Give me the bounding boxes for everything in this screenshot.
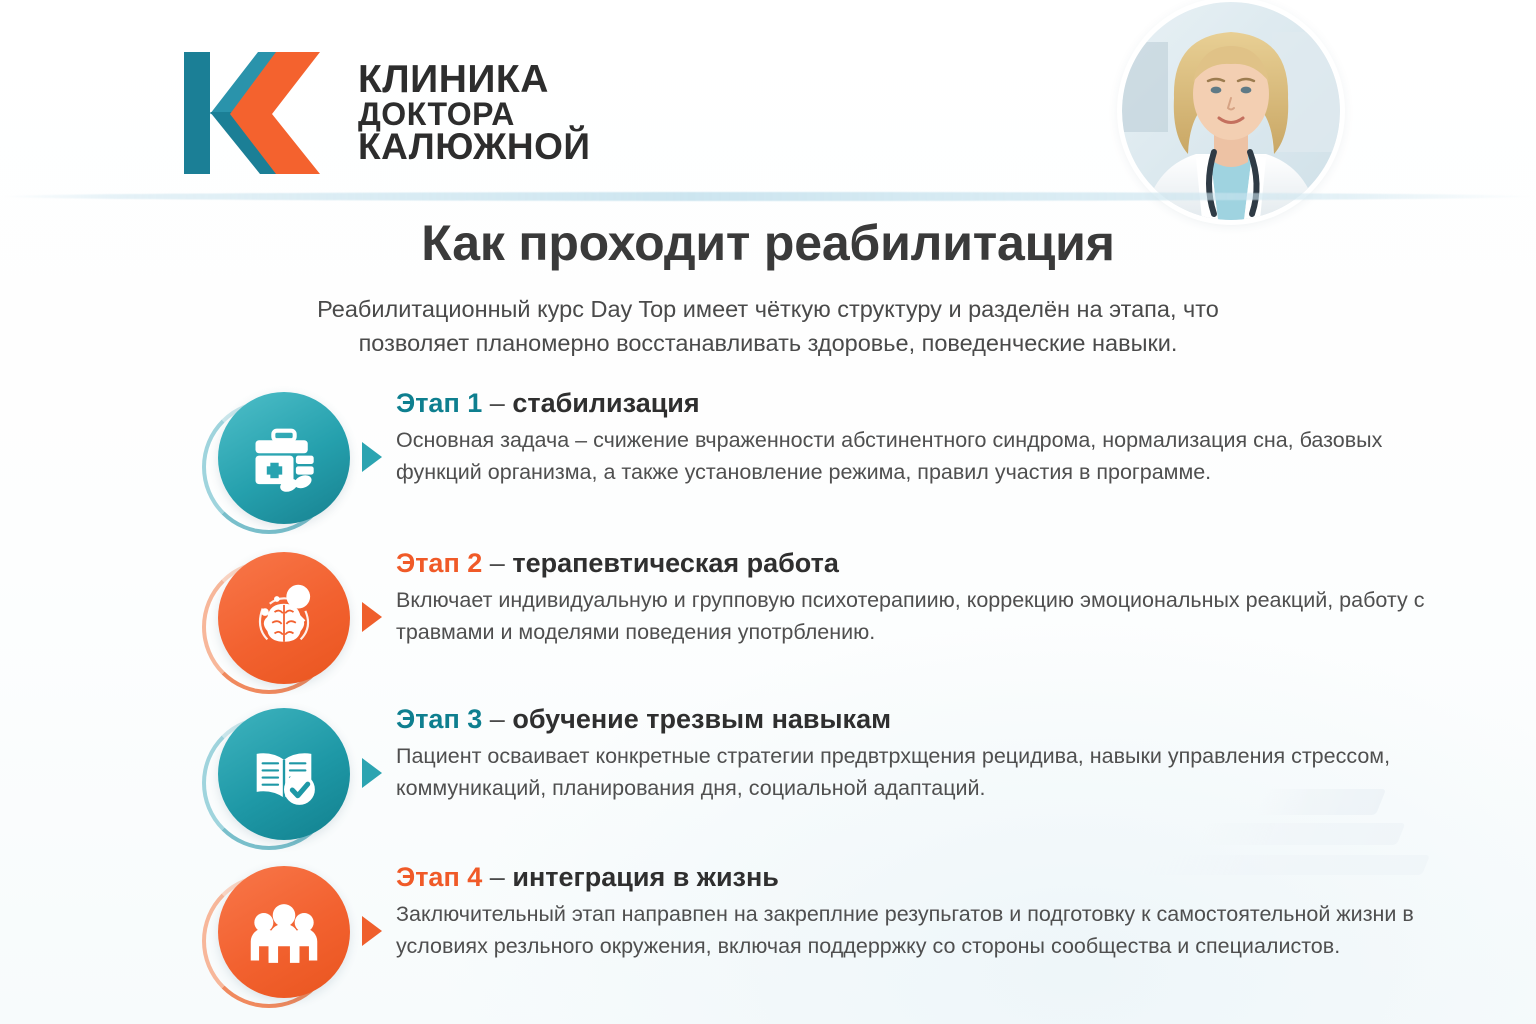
stage-name: обучение трезвым навыкам	[512, 704, 891, 734]
doctor-portrait-avatar	[1122, 2, 1340, 220]
stage-number: Этап 3	[396, 704, 482, 734]
stage-description: Пациент осваивает конкретные стратегии п…	[396, 741, 1426, 805]
brand-logo: КЛИНИКА ДОКТОРА КАЛЮЖНОЙ	[180, 48, 591, 178]
stage-icon-bubble	[218, 866, 350, 998]
stage-dash: –	[490, 862, 505, 892]
brand-line-3: КАЛЮЖНОЙ	[358, 129, 591, 165]
stage-icon-bubble	[218, 552, 350, 684]
stage-icon-bubble	[218, 708, 350, 840]
stage-name: интеграция в жизнь	[512, 862, 779, 892]
stage-item: Этап 3 – обучение трезвым навыкам Пациен…	[196, 702, 1426, 852]
stage-dash: –	[490, 548, 505, 578]
people-group-icon	[246, 894, 322, 970]
infographic-poster: КЛИНИКА ДОКТОРА КАЛЮЖНОЙ	[0, 0, 1536, 1024]
brand-line-1: КЛИНИКА	[358, 61, 591, 98]
brand-wordmark: КЛИНИКА ДОКТОРА КАЛЮЖНОЙ	[358, 61, 591, 165]
stage-heading: Этап 2 – терапевтическая работа	[396, 548, 1426, 579]
stage-icon-cluster	[196, 860, 396, 1010]
page-title: Как проходит реабилитация	[0, 214, 1536, 272]
stage-description: Заключительный этап направпен на закрепл…	[396, 899, 1426, 963]
stage-text: Этап 2 – терапевтическая работа Включает…	[396, 546, 1426, 649]
stage-number: Этап 2	[396, 548, 482, 578]
stage-heading: Этап 3 – обучение трезвым навыкам	[396, 704, 1426, 735]
doctor-portrait-icon	[1122, 2, 1340, 220]
header: КЛИНИКА ДОКТОРА КАЛЮЖНОЙ	[0, 0, 1536, 196]
stage-arrow-icon	[362, 442, 382, 472]
stage-arrow-icon	[362, 758, 382, 788]
stage-item: Этап 1 – стабилизация Основная задача – …	[196, 386, 1426, 536]
stage-icon-bubble	[218, 392, 350, 524]
brand-line-2: ДОКТОРА	[358, 99, 591, 130]
title-block: Как проходит реабилитация Реабилитационн…	[0, 214, 1536, 360]
first-aid-kit-icon	[246, 420, 322, 496]
stage-icon-cluster	[196, 386, 396, 536]
stage-arrow-icon	[362, 916, 382, 946]
stage-text: Этап 3 – обучение трезвым навыкам Пациен…	[396, 702, 1426, 805]
stage-number: Этап 1	[396, 388, 482, 418]
stage-arrow-icon	[362, 602, 382, 632]
intro-line-1: Реабилитационный курс Day Top имеет чётк…	[317, 296, 1219, 322]
open-book-check-icon	[246, 736, 322, 812]
stage-text: Этап 4 – интеграция в жизнь Заключительн…	[396, 860, 1426, 963]
stage-name: стабилизация	[512, 388, 699, 418]
stage-name: терапевтическая работа	[512, 548, 839, 578]
stage-item: Этап 2 – терапевтическая работа Включает…	[196, 546, 1426, 696]
stage-description: Основная задача – счижение вчраженности …	[396, 425, 1426, 489]
stage-number: Этап 4	[396, 862, 482, 892]
header-divider	[0, 192, 1536, 201]
stage-icon-cluster	[196, 702, 396, 852]
stage-item: Этап 4 – интеграция в жизнь Заключительн…	[196, 860, 1426, 1010]
stage-heading: Этап 1 – стабилизация	[396, 388, 1426, 419]
stage-dash: –	[490, 388, 505, 418]
stage-list: Этап 1 – стабилизация Основная задача – …	[196, 386, 1426, 1010]
stage-text: Этап 1 – стабилизация Основная задача – …	[396, 386, 1426, 489]
brain-icon	[246, 580, 322, 656]
stage-icon-cluster	[196, 546, 396, 696]
intro-paragraph: Реабилитационный курс Day Top имеет чётк…	[268, 292, 1268, 360]
stage-description: Включает индивидуальную и групповую псих…	[396, 585, 1426, 649]
intro-line-2: позволяет планомерно восстанавливать здо…	[359, 330, 1178, 356]
double-chevron-k-logo-icon	[180, 48, 332, 178]
stage-heading: Этап 4 – интеграция в жизнь	[396, 862, 1426, 893]
stage-dash: –	[490, 704, 505, 734]
